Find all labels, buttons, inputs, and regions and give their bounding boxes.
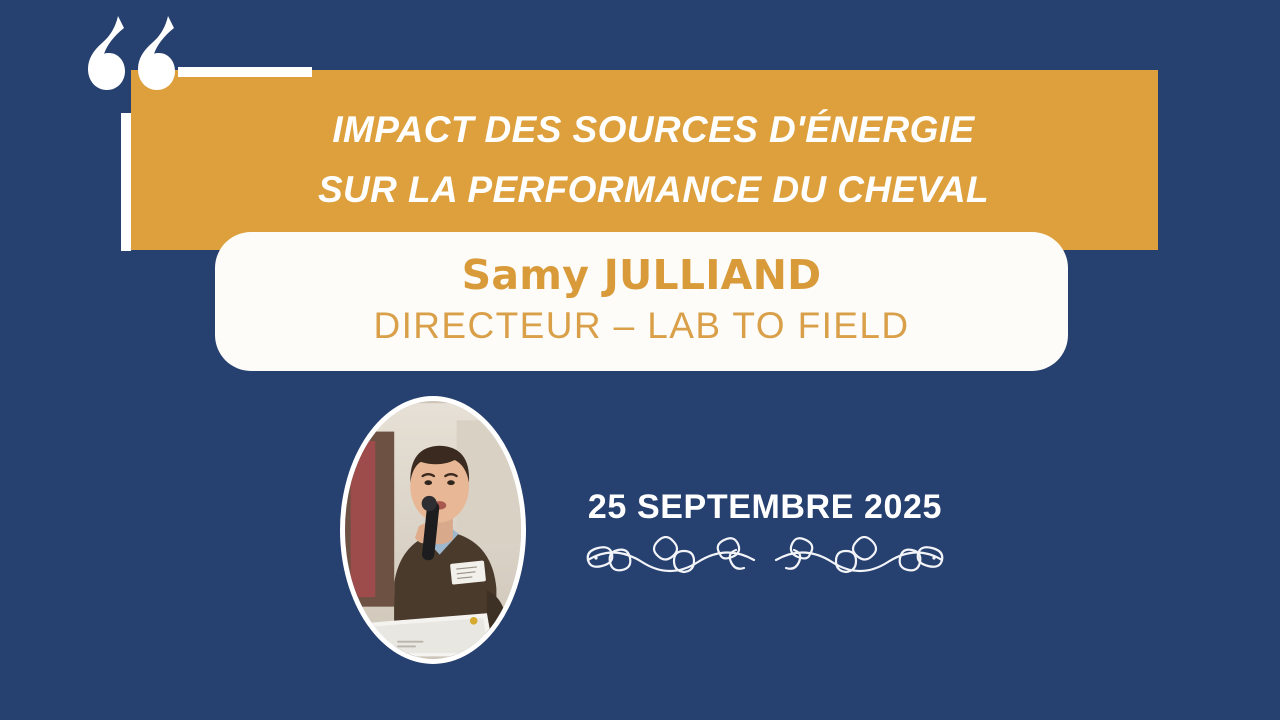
speaker-card: Samy JULLIAND DIRECTEUR – LAB TO FIELD (215, 232, 1068, 371)
speaker-name: Samy JULLIAND (462, 253, 822, 299)
vertical-rule-decoration (121, 113, 131, 251)
event-date: 25 SEPTEMBRE 2025 (520, 488, 1010, 527)
title-band: IMPACT DES SOURCES D'ÉNERGIE SUR LA PERF… (131, 70, 1158, 250)
title-line-2: SUR LA PERFORMANCE DU CHEVAL (300, 160, 989, 220)
speaker-portrait (340, 396, 526, 664)
title-line-1: IMPACT DES SOURCES D'ÉNERGIE (314, 100, 974, 160)
presentation-title-slide: IMPACT DES SOURCES D'ÉNERGIE SUR LA PERF… (0, 0, 1280, 720)
opening-quote-icon (84, 10, 176, 98)
event-date-block: 25 SEPTEMBRE 2025 (520, 488, 1010, 580)
horizontal-rule-decoration (178, 67, 312, 77)
leafy-vine-flourish-icon (574, 536, 956, 580)
speaker-role: DIRECTEUR – LAB TO FIELD (374, 302, 910, 350)
speaker-portrait-image (345, 401, 521, 659)
